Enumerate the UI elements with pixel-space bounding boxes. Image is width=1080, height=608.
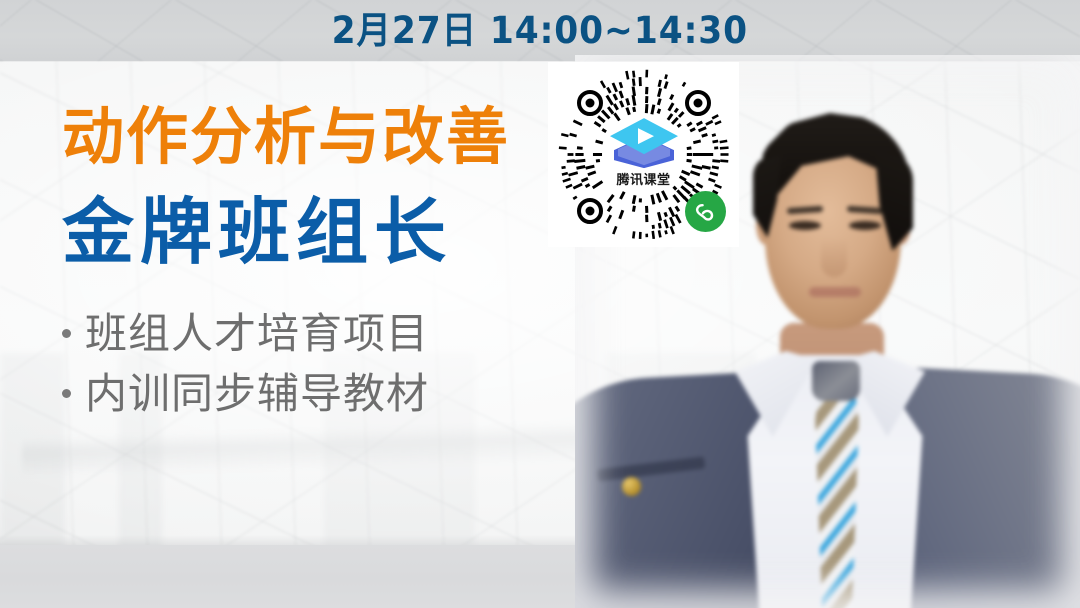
bullet-label: 内训同步辅导教材 [85, 368, 429, 419]
presenter-tie-knot [812, 361, 860, 401]
tencent-classroom-logo: 腾讯课堂 [605, 116, 683, 188]
header-bar: 2月27日 14:00~14:30 [0, 0, 1080, 61]
graduation-cap-play-icon [608, 116, 680, 168]
wechat-miniprogram-badge-icon [685, 191, 726, 232]
qr-brand-label: 腾讯课堂 [605, 169, 683, 188]
presenter-nose [821, 237, 847, 277]
course-title-secondary: 金牌班组长 [62, 193, 582, 272]
presenter-eye-left [789, 221, 821, 230]
list-item: 班组人才培育项目 [62, 308, 582, 359]
wechat-miniprogram-qr-code[interactable]: 腾讯课堂 [548, 62, 739, 247]
promo-banner: 2月27日 14:00~14:30 动作分析与改善 金牌班组长 班组人才培育项目… [0, 0, 1080, 608]
bullet-list: 班组人才培育项目 内训同步辅导教材 [62, 308, 582, 418]
bullet-label: 班组人才培育项目 [85, 308, 429, 359]
bullet-dot-icon [62, 329, 71, 338]
presenter-lapel-pin [622, 477, 641, 496]
list-item: 内训同步辅导教材 [62, 368, 582, 419]
presenter-mouth [809, 287, 861, 297]
course-title-primary: 动作分析与改善 [62, 104, 582, 169]
copy-block: 动作分析与改善 金牌班组长 班组人才培育项目 内训同步辅导教材 [62, 104, 582, 427]
bullet-dot-icon [62, 389, 71, 398]
presenter-eye-right [849, 221, 881, 230]
session-datetime: 2月27日 14:00~14:30 [332, 12, 748, 49]
